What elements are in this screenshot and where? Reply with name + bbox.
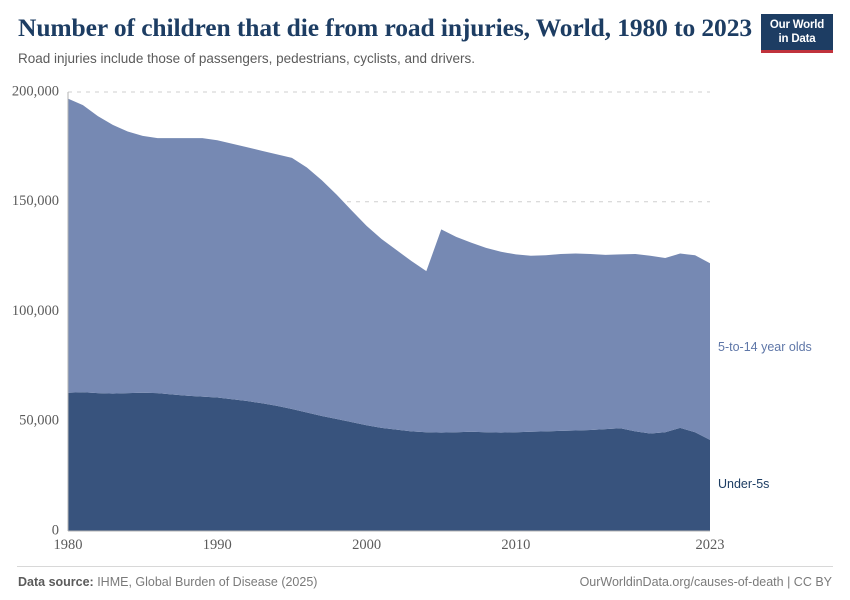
x-tick-label: 2000 [352,537,381,553]
y-tick-label: 150,000 [12,193,59,209]
axes [68,92,710,531]
area-series-5-to-14-year-olds [68,99,710,440]
gridlines [68,92,710,421]
area-series-under-5s [68,392,710,531]
x-tick-label: 2023 [696,537,725,553]
x-axis-tick-labels: 19801990200020102023 [54,537,725,553]
x-tick-label: 2010 [501,537,530,553]
chart-header: Number of children that die from road in… [18,14,758,67]
y-tick-label: 50,000 [19,413,59,429]
series-labels: 5-to-14 year oldsUnder-5s [718,340,812,491]
chart-subtitle: Road injuries include those of passenger… [18,50,758,68]
series-label-5-to-14-year-olds: 5-to-14 year olds [718,340,812,354]
area-chart-svg: 050,000100,000150,000200,000 19801990200… [0,0,850,600]
footer-attribution[interactable]: OurWorldinData.org/causes-of-death | CC … [580,575,832,589]
plot-area: 050,000100,000150,000200,000 19801990200… [0,0,850,600]
y-axis-tick-labels: 050,000100,000150,000200,000 [12,83,59,538]
chart-footer: Data source: IHME, Global Burden of Dise… [18,575,832,589]
logo-line-2: in Data [767,33,827,47]
footer-divider [17,566,833,567]
y-tick-label: 0 [52,522,59,538]
series-areas [68,99,710,531]
x-tick-label: 1980 [54,537,83,553]
y-tick-label: 200,000 [12,83,59,99]
series-label-under-5s: Under-5s [718,477,769,491]
chart-container: Number of children that die from road in… [0,0,850,600]
x-tick-label: 1990 [203,537,232,553]
y-tick-label: 100,000 [12,303,59,319]
logo-line-1: Our World [767,19,827,33]
data-source: Data source: IHME, Global Burden of Dise… [18,575,317,589]
our-world-in-data-logo[interactable]: Our World in Data [761,14,833,53]
data-source-label: Data source: [18,575,94,589]
data-source-text: IHME, Global Burden of Disease (2025) [94,575,318,589]
page-title: Number of children that die from road in… [18,14,758,43]
